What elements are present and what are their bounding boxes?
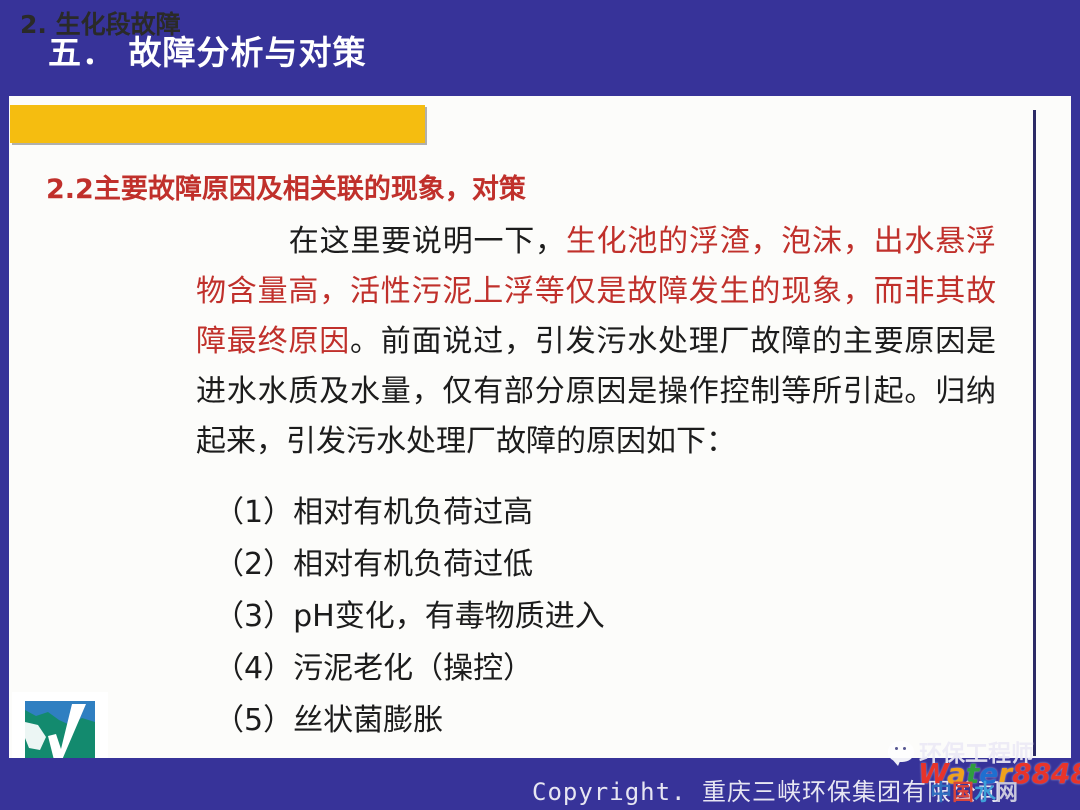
list-item: （2）相对有机负荷过低 <box>214 539 605 591</box>
slide-canvas: 五． 故障分析与对策 2. 生化段故障 2.2主要故障原因及相关联的现象，对策 … <box>0 0 1080 810</box>
body-paragraph: 在这里要说明一下，生化池的浮渣，泡沫，出水悬浮物含量高，活性污泥上浮等仅是故障发… <box>196 217 996 467</box>
list-item: （5）丝状菌膨胀 <box>214 695 605 747</box>
list-item: （3）pH变化，有毒物质进入 <box>214 591 605 643</box>
list-item: （4）污泥老化（操控） <box>214 643 605 695</box>
wechat-icon-eye-right <box>903 747 906 750</box>
cn-char: 水 <box>974 781 996 806</box>
cn-char: 网 <box>996 781 1018 806</box>
wechat-icon-eye-left <box>895 747 898 750</box>
section-banner-label: 2. 生化段故障 <box>20 5 181 41</box>
cause-list: （1）相对有机负荷过高 （2）相对有机负荷过低 （3）pH变化，有毒物质进入 （… <box>214 487 605 747</box>
china-water-network-watermark: 中国水网 <box>930 783 1018 805</box>
list-item: （1）相对有机负荷过高 <box>214 487 605 539</box>
paragraph-run-black-1: 在这里要说明一下， <box>288 224 566 259</box>
water-letter: 8848 <box>1012 757 1080 790</box>
cn-char: 国 <box>952 781 974 806</box>
wechat-icon <box>888 741 914 762</box>
vertical-divider <box>1033 110 1036 756</box>
cn-char: 中 <box>930 781 952 806</box>
subsection-heading: 2.2主要故障原因及相关联的现象，对策 <box>46 167 526 206</box>
section-banner <box>10 105 425 143</box>
